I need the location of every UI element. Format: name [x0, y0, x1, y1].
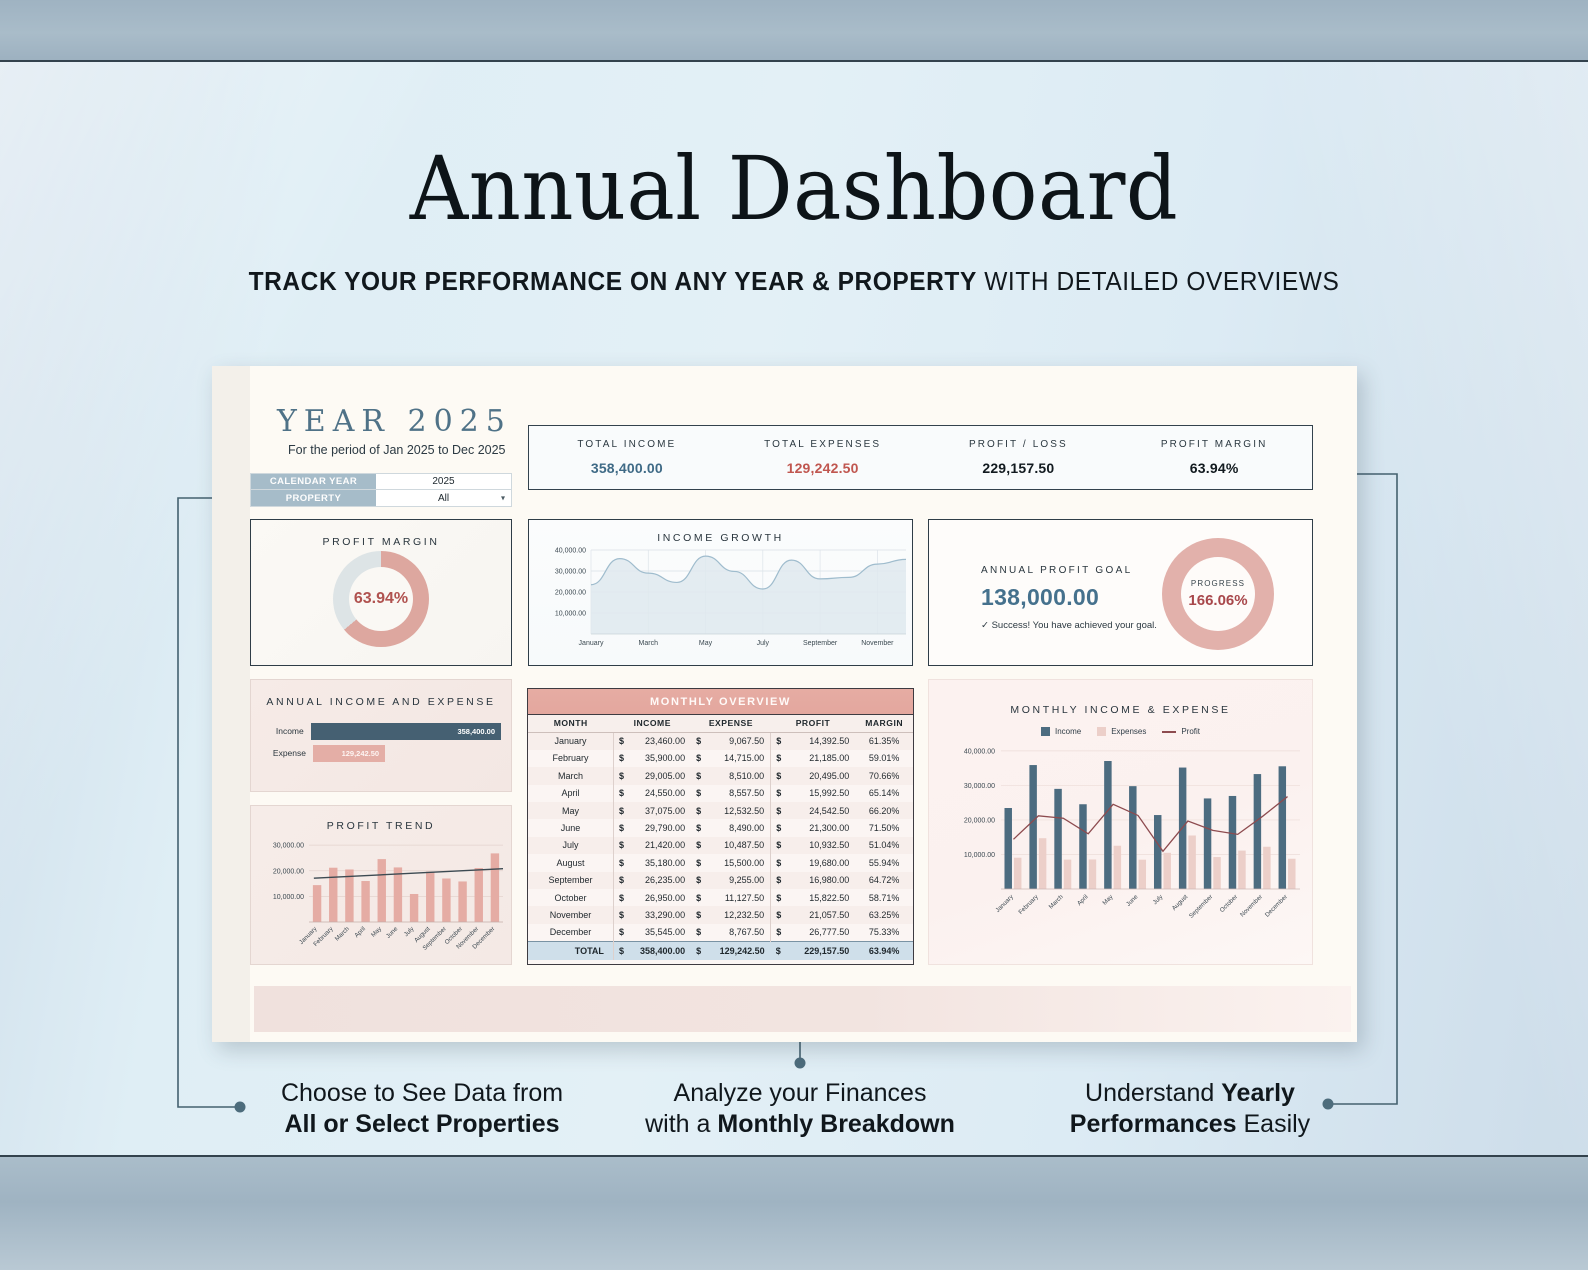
svg-text:March: March: [1048, 893, 1066, 911]
cell-margin: 61.35%: [855, 732, 913, 749]
expense-bar-label: Expense: [261, 748, 313, 758]
profit-trend-card: PROFIT TREND 10,000.0020,000.0030,000.00…: [250, 805, 512, 965]
kpi-profit-loss-label: PROFIT / LOSS: [969, 439, 1068, 450]
svg-text:April: April: [353, 925, 367, 939]
cell-expense: $8,490.00: [691, 819, 771, 836]
cell-margin: 58.71%: [855, 889, 913, 906]
chart-legend: Income Expenses Profit: [929, 727, 1312, 736]
expense-bar-value: 129,242.50: [342, 749, 380, 758]
monthly-overview-card: MONTHLY OVERVIEW MONTH INCOME EXPENSE PR…: [527, 688, 914, 965]
monthly-income-expense-title: MONTHLY INCOME & EXPENSE: [929, 704, 1312, 716]
col-margin: MARGIN: [855, 715, 913, 732]
currency-symbol: $: [696, 875, 701, 885]
filter-selector: CALENDAR YEAR 2025 PROPERTY All ▾: [250, 473, 512, 507]
cell-expense: $8,510.00: [691, 767, 771, 784]
currency-symbol: $: [619, 840, 624, 850]
total-label: TOTAL: [528, 941, 613, 960]
currency-symbol: $: [776, 946, 781, 956]
cell-profit: $26,777.50: [771, 924, 856, 941]
kpi-total-expenses-label: TOTAL EXPENSES: [764, 439, 881, 450]
cell-month: February: [528, 750, 613, 767]
chevron-down-icon[interactable]: ▾: [501, 494, 505, 503]
currency-symbol: $: [696, 823, 701, 833]
legend-profit: Profit: [1162, 727, 1200, 736]
income-bar-value: 358,400.00: [457, 727, 495, 736]
col-month: MONTH: [528, 715, 613, 732]
cell-income: $24,550.00: [613, 785, 691, 802]
currency-symbol: $: [776, 893, 781, 903]
table-row: January$23,460.00$9,067.50$14,392.5061.3…: [528, 732, 913, 749]
cell-profit: $19,680.00: [771, 854, 856, 871]
kpi-profit-margin-label: PROFIT MARGIN: [1161, 439, 1268, 450]
svg-text:March: March: [639, 640, 659, 647]
currency-symbol: $: [696, 771, 701, 781]
cell-profit: $20,495.00: [771, 767, 856, 784]
profit-margin-donut-value: 63.94%: [354, 590, 408, 608]
svg-text:May: May: [699, 640, 713, 647]
currency-symbol: $: [696, 840, 701, 850]
kpi-profit-loss: PROFIT / LOSS 229,157.50: [921, 426, 1117, 489]
currency-symbol: $: [776, 823, 781, 833]
svg-text:30,000.00: 30,000.00: [273, 843, 304, 850]
svg-text:April: April: [1076, 893, 1090, 907]
cell-profit: $14,392.50: [771, 732, 856, 749]
monthly-overview-table: MONTH INCOME EXPENSE PROFIT MARGIN Janua…: [528, 715, 913, 960]
kpi-total-expenses: TOTAL EXPENSES 129,242.50: [725, 426, 921, 489]
cell-month: September: [528, 872, 613, 889]
currency-symbol: $: [776, 736, 781, 746]
total-profit: $229,157.50: [771, 941, 856, 960]
table-body: January$23,460.00$9,067.50$14,392.5061.3…: [528, 732, 913, 941]
currency-symbol: $: [619, 788, 624, 798]
svg-text:October: October: [1219, 893, 1240, 914]
currency-symbol: $: [619, 823, 624, 833]
income-growth-card: INCOME GROWTH 10,000.0020,000.0030,000.0…: [528, 519, 913, 666]
svg-text:40,000.00: 40,000.00: [555, 548, 586, 555]
cell-month: December: [528, 924, 613, 941]
currency-symbol: $: [619, 858, 624, 868]
currency-symbol: $: [776, 910, 781, 920]
property-dropdown[interactable]: All ▾: [376, 490, 511, 506]
table-row: April$24,550.00$8,557.50$15,992.5065.14%: [528, 785, 913, 802]
svg-text:June: June: [385, 925, 400, 940]
property-label: PROPERTY: [251, 490, 376, 506]
profit-margin-donut: 63.94%: [333, 551, 429, 647]
annual-profit-goal-label: ANNUAL PROFIT GOAL: [981, 565, 1132, 576]
currency-symbol: $: [619, 753, 624, 763]
table-header-row: MONTH INCOME EXPENSE PROFIT MARGIN: [528, 715, 913, 732]
currency-symbol: $: [776, 771, 781, 781]
cell-income: $29,005.00: [613, 767, 691, 784]
progress-label: PROGRESS: [1191, 579, 1245, 588]
total-margin: 63.94%: [855, 941, 913, 960]
callout-right-line1-bold: Yearly: [1221, 1079, 1295, 1107]
cell-margin: 59.01%: [855, 750, 913, 767]
kpi-profit-margin-value: 63.94%: [1190, 460, 1239, 476]
svg-text:September: September: [1188, 893, 1214, 919]
table-row: February$35,900.00$14,715.00$21,185.0059…: [528, 750, 913, 767]
kpi-total-expenses-value: 129,242.50: [787, 460, 859, 476]
svg-text:10,000.00: 10,000.00: [555, 611, 586, 618]
progress-donut-hole: PROGRESS 166.06%: [1181, 557, 1255, 631]
kpi-profit-margin: PROFIT MARGIN 63.94%: [1116, 426, 1312, 489]
total-expense-value: 129,242.50: [720, 946, 765, 956]
profit-margin-card: PROFIT MARGIN 63.94%: [250, 519, 512, 666]
table-row: July$21,420.00$10,487.50$10,932.5051.04%: [528, 837, 913, 854]
callout-middle-line2-bold: Monthly Breakdown: [717, 1110, 955, 1138]
currency-symbol: $: [776, 788, 781, 798]
svg-text:May: May: [1101, 893, 1115, 907]
currency-symbol: $: [619, 946, 624, 956]
cell-profit: $24,542.50: [771, 802, 856, 819]
svg-text:20,000.00: 20,000.00: [273, 868, 304, 875]
cell-profit: $15,822.50: [771, 889, 856, 906]
legend-profit-label: Profit: [1181, 727, 1200, 736]
cell-profit: $21,057.50: [771, 906, 856, 923]
income-bar-label: Income: [261, 726, 311, 736]
cell-month: May: [528, 802, 613, 819]
cell-profit: $21,300.00: [771, 819, 856, 836]
cell-month: January: [528, 732, 613, 749]
currency-symbol: $: [776, 875, 781, 885]
callout-left-caption: Choose to See Data from All or Select Pr…: [262, 1078, 582, 1139]
cell-expense: $9,255.00: [691, 872, 771, 889]
calendar-year-label: CALENDAR YEAR: [251, 474, 376, 489]
legend-income-swatch: [1041, 727, 1050, 736]
subtitle-strong: TRACK YOUR PERFORMANCE ON ANY YEAR & PRO…: [249, 268, 977, 296]
sheet-row-gutter: [212, 366, 250, 1042]
cell-income: $26,235.00: [613, 872, 691, 889]
income-growth-chart: 10,000.0020,000.0030,000.0040,000.00Janu…: [529, 544, 914, 654]
cell-expense: $12,532.50: [691, 802, 771, 819]
callout-left-line2: All or Select Properties: [284, 1110, 559, 1138]
cell-income: $35,545.00: [613, 924, 691, 941]
annual-income-expense-title: ANNUAL INCOME AND EXPENSE: [251, 696, 511, 708]
currency-symbol: $: [619, 910, 624, 920]
cell-month: July: [528, 837, 613, 854]
cell-margin: 55.94%: [855, 854, 913, 871]
cell-margin: 51.04%: [855, 837, 913, 854]
progress-value: 166.06%: [1188, 592, 1247, 609]
currency-symbol: $: [619, 771, 624, 781]
kpi-strip: TOTAL INCOME 358,400.00 TOTAL EXPENSES 1…: [528, 425, 1313, 490]
expense-bar-row: Expense 129,242.50: [261, 742, 501, 764]
svg-text:June: June: [1125, 893, 1140, 908]
cell-expense: $10,487.50: [691, 837, 771, 854]
table-row: May$37,075.00$12,532.50$24,542.5066.20%: [528, 802, 913, 819]
svg-text:20,000.00: 20,000.00: [555, 590, 586, 597]
profit-trend-chart: 10,000.0020,000.0030,000.00JanuaryFebrua…: [251, 832, 513, 960]
cell-month: August: [528, 854, 613, 871]
svg-text:40,000.00: 40,000.00: [964, 748, 995, 755]
currency-symbol: $: [776, 806, 781, 816]
svg-text:August: August: [1171, 893, 1190, 912]
total-expense: $129,242.50: [691, 941, 771, 960]
cell-month: June: [528, 819, 613, 836]
cell-expense: $9,067.50: [691, 732, 771, 749]
cell-income: $35,180.00: [613, 854, 691, 871]
cell-income: $23,460.00: [613, 732, 691, 749]
svg-text:30,000.00: 30,000.00: [964, 783, 995, 790]
svg-text:20,000.00: 20,000.00: [964, 817, 995, 824]
currency-symbol: $: [619, 806, 624, 816]
page-title: Annual Dashboard: [64, 137, 1525, 240]
page-subtitle: TRACK YOUR PERFORMANCE ON ANY YEAR & PRO…: [32, 268, 1556, 297]
currency-symbol: $: [776, 753, 781, 763]
profit-trend-title: PROFIT TREND: [251, 820, 511, 832]
kpi-total-income-value: 358,400.00: [591, 460, 663, 476]
svg-text:November: November: [861, 640, 894, 647]
total-profit-value: 229,157.50: [804, 946, 849, 956]
selector-row-property[interactable]: PROPERTY All ▾: [250, 490, 512, 507]
table-row: August$35,180.00$15,500.00$19,680.0055.9…: [528, 854, 913, 871]
period-subtext: For the period of Jan 2025 to Dec 2025: [288, 443, 506, 457]
sheet-bottom-strip: [254, 986, 1351, 1032]
legend-profit-swatch: [1162, 731, 1176, 733]
currency-symbol: $: [696, 927, 701, 937]
bottom-edge-band: [0, 1155, 1588, 1270]
annual-profit-goal-value: 138,000.00: [981, 584, 1099, 611]
callout-right-line2-bold: Performances: [1070, 1110, 1237, 1138]
calendar-year-value[interactable]: 2025: [376, 474, 511, 489]
subtitle-light: WITH DETAILED OVERVIEWS: [977, 268, 1339, 296]
cell-income: $33,290.00: [613, 906, 691, 923]
cell-expense: $8,557.50: [691, 785, 771, 802]
monthly-income-expense-card: MONTHLY INCOME & EXPENSE Income Expenses…: [928, 679, 1313, 965]
svg-text:November: November: [1239, 893, 1264, 918]
monthly-income-expense-chart: 10,000.0020,000.0030,000.0040,000.00Janu…: [929, 736, 1314, 951]
cell-expense: $14,715.00: [691, 750, 771, 767]
svg-text:December: December: [1264, 893, 1289, 918]
cell-month: November: [528, 906, 613, 923]
top-edge-band: [0, 0, 1588, 62]
currency-symbol: $: [776, 927, 781, 937]
svg-text:10,000.00: 10,000.00: [273, 894, 304, 901]
callout-middle-caption: Analyze your Finances with a Monthly Bre…: [640, 1078, 960, 1139]
cell-expense: $11,127.50: [691, 889, 771, 906]
cell-expense: $8,767.50: [691, 924, 771, 941]
year-heading: YEAR 2025: [277, 404, 512, 439]
cell-margin: 70.66%: [855, 767, 913, 784]
table-row: December$35,545.00$8,767.50$26,777.5075.…: [528, 924, 913, 941]
currency-symbol: $: [619, 736, 624, 746]
table-footer: TOTAL $358,400.00 $129,242.50 $229,157.5…: [528, 941, 913, 960]
legend-income: Income: [1041, 727, 1081, 736]
callout-left-line1: Choose to See Data from: [262, 1078, 582, 1109]
kpi-profit-loss-value: 229,157.50: [982, 460, 1054, 476]
currency-symbol: $: [696, 736, 701, 746]
progress-donut: PROGRESS 166.06%: [1162, 538, 1274, 650]
currency-symbol: $: [696, 753, 701, 763]
property-value-text: All: [438, 493, 449, 504]
kpi-total-income: TOTAL INCOME 358,400.00: [529, 426, 725, 489]
table-header: MONTH INCOME EXPENSE PROFIT MARGIN: [528, 715, 913, 732]
cell-margin: 64.72%: [855, 872, 913, 889]
income-bar: 358,400.00: [311, 723, 501, 740]
table-row: November$33,290.00$12,232.50$21,057.5063…: [528, 906, 913, 923]
callout-right-line1-pre: Understand: [1085, 1079, 1221, 1107]
cell-month: April: [528, 785, 613, 802]
callout-middle-line2-pre: with a: [645, 1110, 717, 1138]
legend-income-label: Income: [1055, 727, 1081, 736]
currency-symbol: $: [696, 806, 701, 816]
currency-symbol: $: [619, 893, 624, 903]
svg-text:July: July: [1152, 893, 1165, 906]
cell-month: October: [528, 889, 613, 906]
cell-month: March: [528, 767, 613, 784]
svg-text:September: September: [803, 640, 838, 647]
cell-income: $37,075.00: [613, 802, 691, 819]
svg-text:January: January: [579, 640, 604, 647]
table-row: March$29,005.00$8,510.00$20,495.0070.66%: [528, 767, 913, 784]
callout-right-line2-rest: Easily: [1237, 1110, 1311, 1138]
currency-symbol: $: [619, 875, 624, 885]
cell-income: $21,420.00: [613, 837, 691, 854]
legend-expenses-swatch: [1097, 727, 1106, 736]
cell-margin: 75.33%: [855, 924, 913, 941]
svg-text:January: January: [994, 893, 1015, 914]
currency-symbol: $: [696, 946, 701, 956]
col-income: INCOME: [613, 715, 691, 732]
selector-row-calendar-year[interactable]: CALENDAR YEAR 2025: [250, 473, 512, 490]
expense-bar: 129,242.50: [313, 745, 385, 762]
currency-symbol: $: [696, 788, 701, 798]
svg-text:May: May: [370, 925, 384, 939]
currency-symbol: $: [696, 893, 701, 903]
svg-text:February: February: [1017, 893, 1040, 916]
cell-expense: $12,232.50: [691, 906, 771, 923]
income-growth-title: INCOME GROWTH: [529, 532, 912, 544]
cell-margin: 65.14%: [855, 785, 913, 802]
income-bar-row: Income 358,400.00: [261, 720, 501, 742]
col-profit: PROFIT: [771, 715, 856, 732]
cell-profit: $21,185.00: [771, 750, 856, 767]
svg-text:30,000.00: 30,000.00: [555, 569, 586, 576]
currency-symbol: $: [696, 910, 701, 920]
total-income: $358,400.00: [613, 941, 691, 960]
annual-profit-goal-card: ANNUAL PROFIT GOAL 138,000.00 ✓ Success!…: [928, 519, 1313, 666]
kpi-total-income-label: TOTAL INCOME: [577, 439, 676, 450]
cell-margin: 63.25%: [855, 906, 913, 923]
legend-expenses-label: Expenses: [1111, 727, 1146, 736]
svg-text:July: July: [757, 640, 770, 647]
profit-margin-donut-hole: 63.94%: [349, 567, 413, 631]
currency-symbol: $: [619, 927, 624, 937]
monthly-overview-banner: MONTHLY OVERVIEW: [528, 689, 913, 715]
cell-income: $26,950.00: [613, 889, 691, 906]
total-income-value: 358,400.00: [640, 946, 685, 956]
legend-expenses: Expenses: [1097, 727, 1146, 736]
currency-symbol: $: [776, 858, 781, 868]
svg-text:July: July: [403, 925, 416, 938]
callout-right-caption: Understand Yearly Performances Easily: [1030, 1078, 1350, 1139]
cell-expense: $15,500.00: [691, 854, 771, 871]
currency-symbol: $: [696, 858, 701, 868]
profit-margin-card-title: PROFIT MARGIN: [251, 536, 511, 548]
cell-profit: $10,932.50: [771, 837, 856, 854]
cell-profit: $15,992.50: [771, 785, 856, 802]
cell-income: $29,790.00: [613, 819, 691, 836]
table-row: June$29,790.00$8,490.00$21,300.0071.50%: [528, 819, 913, 836]
annual-income-expense-card: ANNUAL INCOME AND EXPENSE Income 358,400…: [250, 679, 512, 792]
cell-margin: 71.50%: [855, 819, 913, 836]
cell-margin: 66.20%: [855, 802, 913, 819]
cell-income: $35,900.00: [613, 750, 691, 767]
svg-text:10,000.00: 10,000.00: [964, 852, 995, 859]
col-expense: EXPENSE: [691, 715, 771, 732]
table-row: September$26,235.00$9,255.00$16,980.0064…: [528, 872, 913, 889]
callout-middle-line1: Analyze your Finances: [640, 1078, 960, 1109]
cell-profit: $16,980.00: [771, 872, 856, 889]
annual-profit-goal-note: ✓ Success! You have achieved your goal.: [981, 620, 1157, 631]
table-row: October$26,950.00$11,127.50$15,822.5058.…: [528, 889, 913, 906]
calendar-year-text: 2025: [432, 476, 454, 487]
svg-text:March: March: [334, 925, 352, 943]
table-total-row: TOTAL $358,400.00 $129,242.50 $229,157.5…: [528, 941, 913, 960]
currency-symbol: $: [776, 840, 781, 850]
